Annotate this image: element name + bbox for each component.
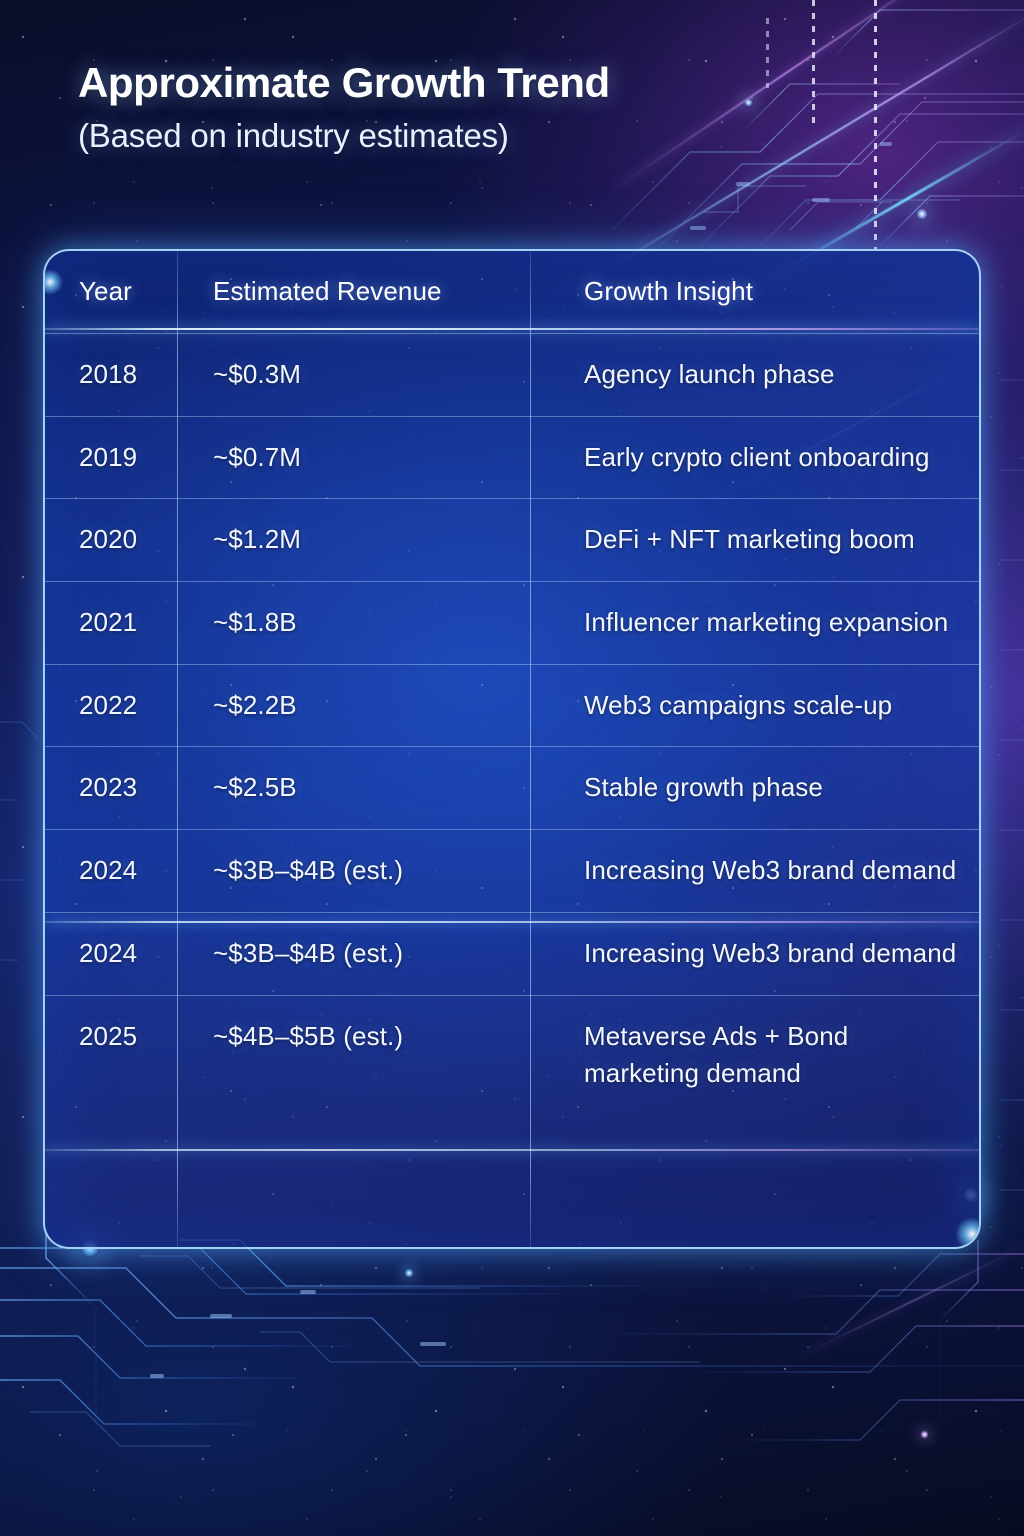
table-row: 2024 ~$3B–$4B (est.) Increasing Web3 bra… bbox=[45, 830, 979, 913]
cell-year: 2020 bbox=[45, 499, 177, 582]
glow-node-decoration bbox=[404, 1268, 414, 1278]
page-header: Approximate Growth Trend (Based on indus… bbox=[78, 58, 878, 155]
glow-node-decoration bbox=[916, 208, 928, 220]
column-header-insight: Growth Insight bbox=[530, 251, 979, 334]
cell-revenue: ~$4B–$5B (est.) bbox=[177, 995, 530, 1115]
cell-revenue: ~$2.2B bbox=[177, 664, 530, 747]
cell-insight: Metaverse Ads + Bond marketing demand bbox=[530, 995, 979, 1115]
cell-revenue: ~$3B–$4B (est.) bbox=[177, 830, 530, 913]
table-row: 2019 ~$0.7M Early crypto client onboardi… bbox=[45, 416, 979, 499]
growth-trend-table: Year Estimated Revenue Growth Insight 20… bbox=[45, 251, 979, 1115]
cell-year: 2024 bbox=[45, 830, 177, 913]
column-header-revenue: Estimated Revenue bbox=[177, 251, 530, 334]
table-row: 2021 ~$1.8B Influencer marketing expansi… bbox=[45, 582, 979, 665]
cell-revenue: ~$1.8B bbox=[177, 582, 530, 665]
table-row: 2025 ~$4B–$5B (est.) Metaverse Ads + Bon… bbox=[45, 995, 979, 1115]
glow-node-decoration bbox=[920, 1430, 929, 1439]
cell-insight: DeFi + NFT marketing boom bbox=[530, 499, 979, 582]
column-header-year: Year bbox=[45, 251, 177, 334]
page-subtitle: (Based on industry estimates) bbox=[78, 116, 878, 156]
cell-revenue: ~$0.7M bbox=[177, 416, 530, 499]
cell-insight: Early crypto client onboarding bbox=[530, 416, 979, 499]
cell-insight: Influencer marketing expansion bbox=[530, 582, 979, 665]
cell-revenue: ~$1.2M bbox=[177, 499, 530, 582]
table-row: 2018 ~$0.3M Agency launch phase bbox=[45, 334, 979, 417]
cell-insight: Increasing Web3 brand demand bbox=[530, 912, 979, 995]
cell-revenue: ~$0.3M bbox=[177, 334, 530, 417]
page-title: Approximate Growth Trend bbox=[78, 58, 878, 108]
cell-insight: Agency launch phase bbox=[530, 334, 979, 417]
cell-year: 2018 bbox=[45, 334, 177, 417]
table-row: 2023 ~$2.5B Stable growth phase bbox=[45, 747, 979, 830]
poster-canvas: Approximate Growth Trend (Based on indus… bbox=[0, 0, 1024, 1536]
cell-revenue: ~$3B–$4B (est.) bbox=[177, 912, 530, 995]
cell-insight: Stable growth phase bbox=[530, 747, 979, 830]
cell-year: 2025 bbox=[45, 995, 177, 1115]
light-streak-decoration bbox=[797, 1243, 1024, 1358]
table-body: 2018 ~$0.3M Agency launch phase 2019 ~$0… bbox=[45, 334, 979, 1115]
corner-glow-bottom-right bbox=[955, 1217, 981, 1249]
cell-revenue: ~$2.5B bbox=[177, 747, 530, 830]
table-row: 2024 ~$3B–$4B (est.) Increasing Web3 bra… bbox=[45, 912, 979, 995]
table-row: 2020 ~$1.2M DeFi + NFT marketing boom bbox=[45, 499, 979, 582]
cell-insight: Web3 campaigns scale-up bbox=[530, 664, 979, 747]
cell-insight: Increasing Web3 brand demand bbox=[530, 830, 979, 913]
cell-year: 2021 bbox=[45, 582, 177, 665]
table-header-row: Year Estimated Revenue Growth Insight bbox=[45, 251, 979, 334]
cell-year: 2022 bbox=[45, 664, 177, 747]
table-row: 2022 ~$2.2B Web3 campaigns scale-up bbox=[45, 664, 979, 747]
cell-year: 2024 bbox=[45, 912, 177, 995]
table-header: Year Estimated Revenue Growth Insight bbox=[45, 251, 979, 334]
cell-year: 2023 bbox=[45, 747, 177, 830]
growth-table-panel: Year Estimated Revenue Growth Insight 20… bbox=[43, 249, 981, 1249]
cell-year: 2019 bbox=[45, 416, 177, 499]
row-separator-glow bbox=[45, 1149, 979, 1151]
